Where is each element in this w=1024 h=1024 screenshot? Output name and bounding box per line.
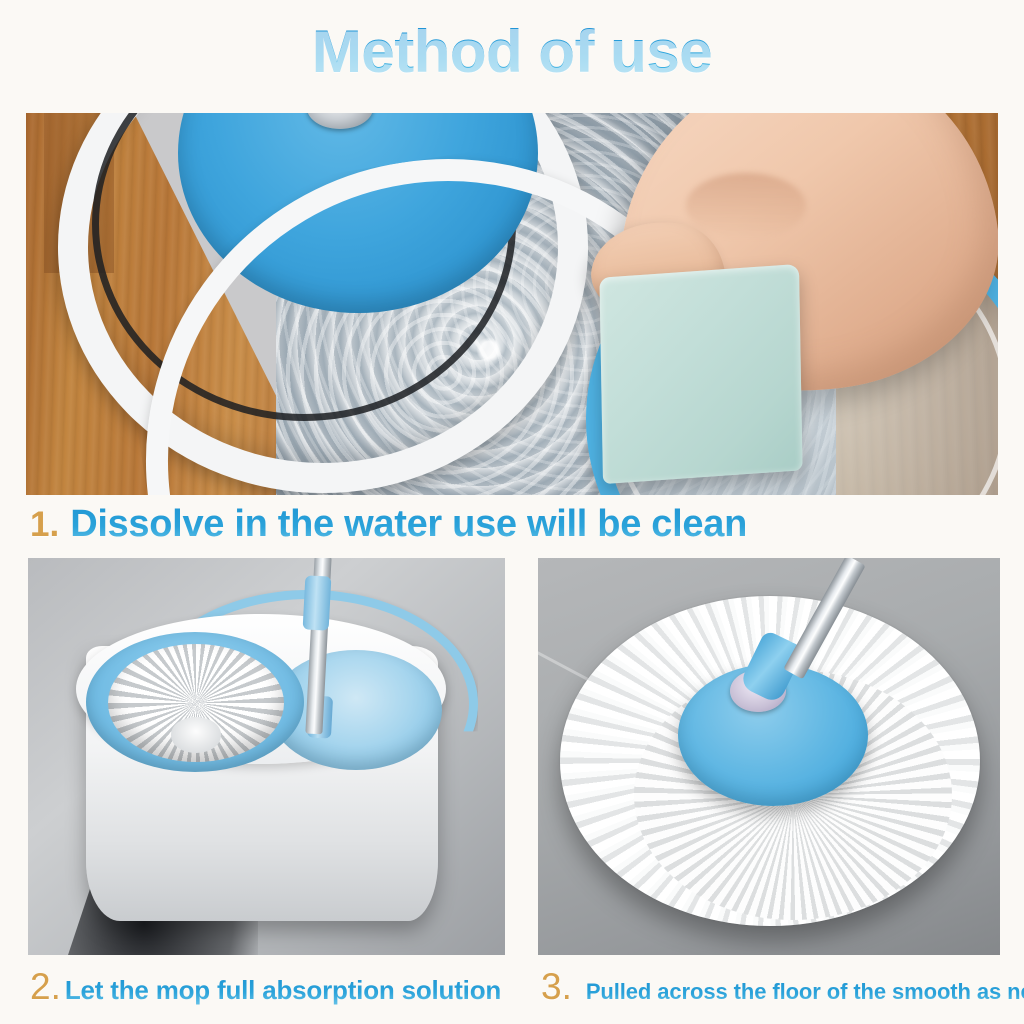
step-3-text: Pulled across the floor of the smooth as… (586, 979, 1024, 1005)
pole-upper-collar (303, 575, 332, 630)
step-3-photo-mop-head-on-floor (538, 558, 1000, 955)
step-1-text: Dissolve in the water use will be clean (70, 503, 747, 546)
step-3-number: 3. (541, 966, 572, 1008)
step-1-number: 1. (30, 505, 59, 545)
step-2-text: Let the mop full absorption solution (65, 975, 501, 1006)
step-1-photo-hand-dropping-tablet (26, 113, 998, 495)
step-2-photo-bucket-with-pole (28, 558, 505, 955)
step-1-caption: 1. Dissolve in the water use will be cle… (30, 503, 747, 546)
hand-knuckle-shading (686, 173, 806, 239)
page-title: Method of use (0, 20, 1024, 83)
mint-green-cleaning-tablet (599, 264, 802, 484)
step-3-caption: 3. Pulled across the floor of the smooth… (541, 966, 1024, 1008)
step-2-caption: 2. Let the mop full absorption solution (30, 966, 501, 1008)
white-spinner-basket (108, 644, 284, 762)
step-2-number: 2. (30, 966, 61, 1008)
